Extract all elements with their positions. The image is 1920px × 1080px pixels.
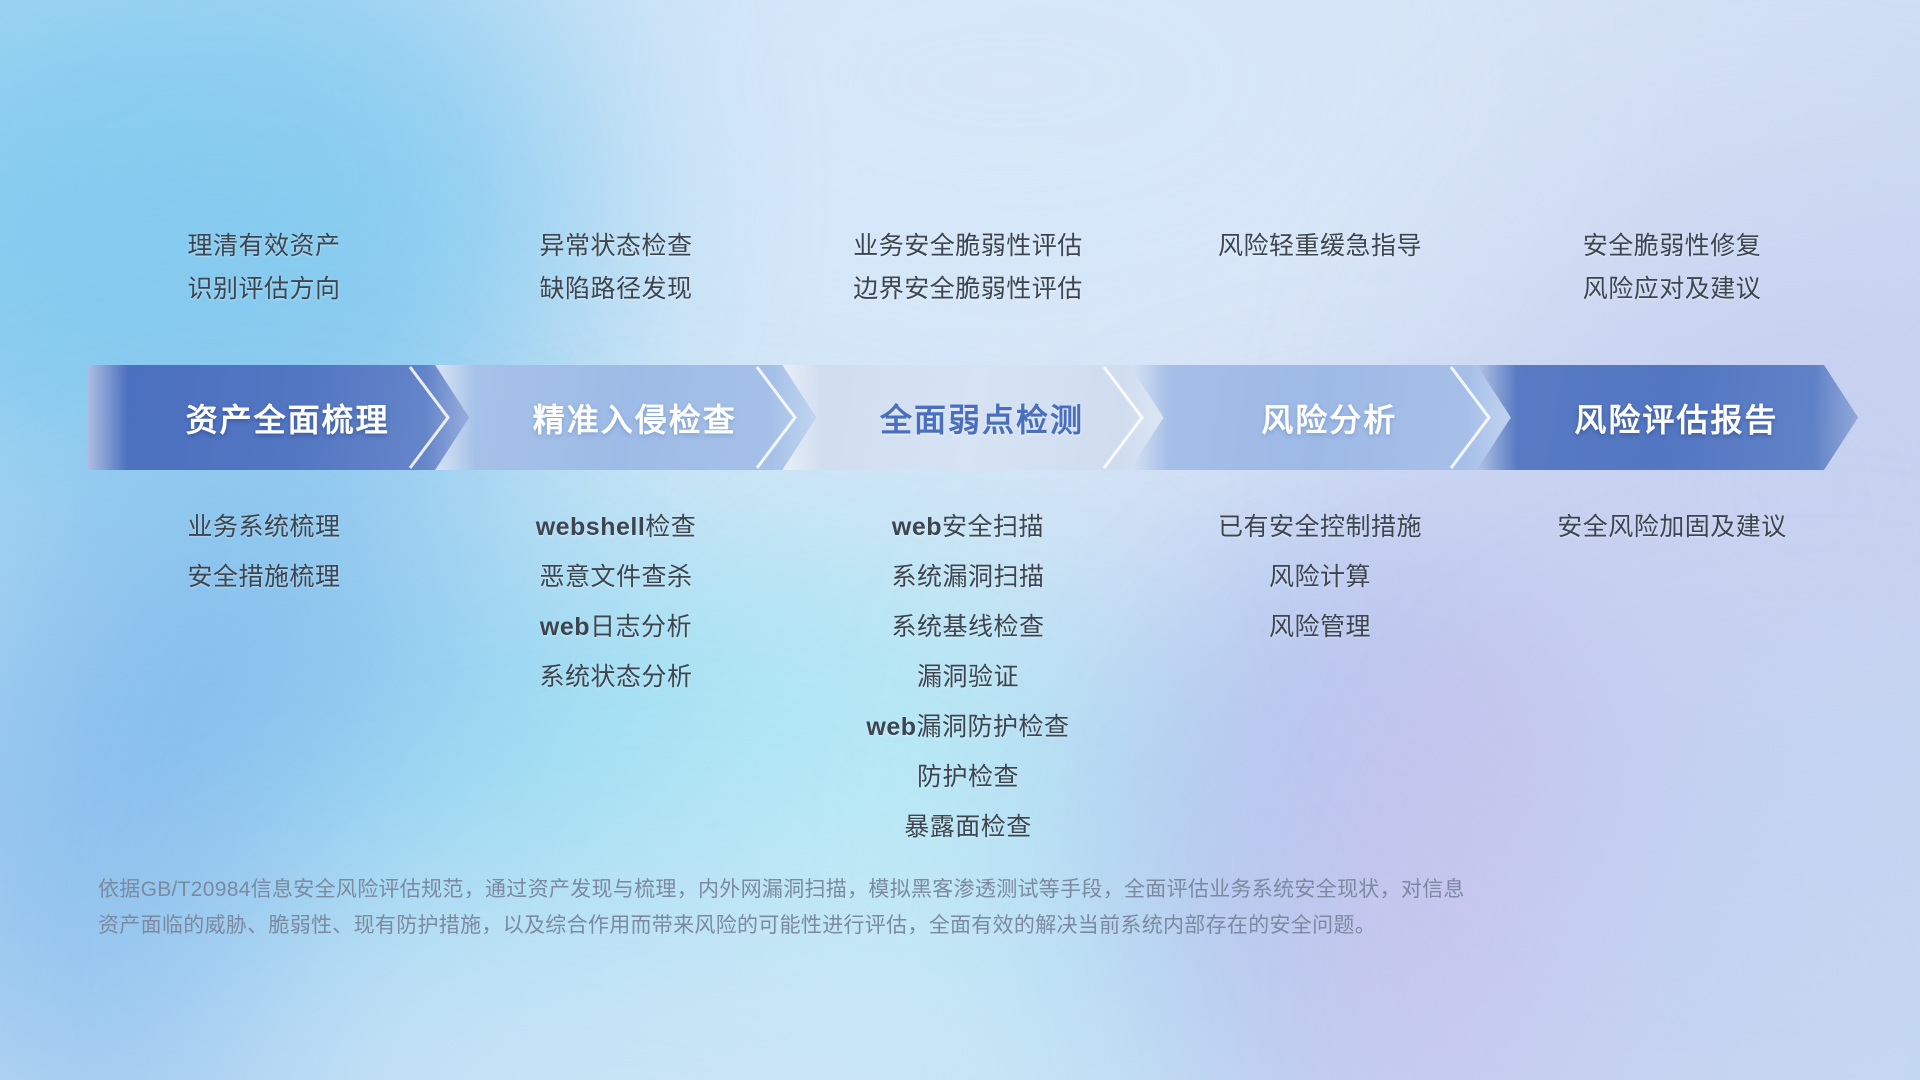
process-arrow-banner: 资产全面梳理 精准入侵检查 全面弱点检测 风险分析 风险评估报告	[88, 365, 1858, 470]
bottom-label-item: 风险管理	[1269, 615, 1371, 640]
process-arrow-label: 风险分析	[1130, 395, 1511, 441]
top-label-item: 风险轻重缓急指导	[1218, 225, 1422, 268]
bottom-label-item: 漏洞验证	[917, 665, 1019, 690]
bottom-label-item: 恶意文件查杀	[539, 565, 692, 590]
process-arrow-label: 全面弱点检测	[782, 395, 1163, 441]
bottom-labels-stage-3: web安全扫描 系统漏洞扫描 系统基线检查 漏洞验证 web漏洞防护检查 防护检…	[792, 515, 1144, 865]
footer-line-2: 资产面临的威胁、脆弱性、现有防护措施，以及综合作用而带来风险的可能性进行评估，全…	[98, 908, 1618, 944]
bottom-labels-stage-2: webshell检查 恶意文件查杀 web日志分析 系统状态分析	[440, 515, 792, 865]
footer-line-1: 依据GB/T20984信息安全风险评估规范，通过资产发现与梳理，内外网漏洞扫描，…	[98, 872, 1618, 908]
top-label-item: 识别评估方向	[187, 268, 340, 311]
process-arrow-label: 资产全面梳理	[88, 395, 469, 441]
bottom-label-item: 安全措施梳理	[187, 565, 340, 590]
bottom-label-item: 业务系统梳理	[187, 515, 340, 540]
bottom-label-item: 系统基线检查	[891, 615, 1044, 640]
bottom-label-item: 风险计算	[1269, 565, 1371, 590]
bottom-label-item: web漏洞防护检查	[866, 715, 1069, 740]
top-label-item: 安全脆弱性修复	[1583, 225, 1762, 268]
top-labels-stage-2: 异常状态检查 缺陷路径发现	[440, 225, 792, 311]
process-arrow-stage-5[interactable]: 风险评估报告	[1477, 365, 1858, 470]
bottom-labels-stage-1: 业务系统梳理 安全措施梳理	[88, 515, 440, 865]
footer-description: 依据GB/T20984信息安全风险评估规范，通过资产发现与梳理，内外网漏洞扫描，…	[98, 872, 1618, 944]
process-arrow-label: 精准入侵检查	[435, 395, 816, 441]
bottom-label-item: 系统漏洞扫描	[891, 565, 1044, 590]
stage-top-labels-row: 理清有效资产 识别评估方向 异常状态检查 缺陷路径发现 业务安全脆弱性评估 边界…	[88, 225, 1848, 311]
top-label-item: 业务安全脆弱性评估	[853, 225, 1083, 268]
bottom-label-item: webshell检查	[536, 515, 697, 540]
bottom-label-item: 防护检查	[917, 765, 1019, 790]
bottom-label-item: web日志分析	[540, 615, 692, 640]
top-label-item: 边界安全脆弱性评估	[853, 268, 1083, 311]
top-label-item: 异常状态检查	[539, 225, 692, 268]
process-arrow-stage-4[interactable]: 风险分析	[1130, 365, 1511, 470]
top-label-item: 缺陷路径发现	[539, 268, 692, 311]
top-label-item: 理清有效资产	[187, 225, 340, 268]
top-labels-stage-3: 业务安全脆弱性评估 边界安全脆弱性评估	[792, 225, 1144, 311]
bottom-label-item: 已有安全控制措施	[1218, 515, 1422, 540]
bottom-label-item: 暴露面检查	[904, 815, 1032, 840]
process-arrow-stage-2[interactable]: 精准入侵检查	[435, 365, 816, 470]
stage-bottom-labels-row: 业务系统梳理 安全措施梳理 webshell检查 恶意文件查杀 web日志分析 …	[88, 515, 1848, 865]
bottom-label-item: web安全扫描	[892, 515, 1044, 540]
bottom-labels-stage-5: 安全风险加固及建议	[1496, 515, 1848, 865]
slide-canvas: 理清有效资产 识别评估方向 异常状态检查 缺陷路径发现 业务安全脆弱性评估 边界…	[0, 0, 1920, 1080]
top-labels-stage-4: 风险轻重缓急指导	[1144, 225, 1496, 311]
top-labels-stage-5: 安全脆弱性修复 风险应对及建议	[1496, 225, 1848, 311]
bottom-label-item: 安全风险加固及建议	[1557, 515, 1787, 540]
process-arrow-stage-3[interactable]: 全面弱点检测	[782, 365, 1163, 470]
process-arrow-stage-1[interactable]: 资产全面梳理	[88, 365, 469, 470]
top-label-item: 风险应对及建议	[1583, 268, 1762, 311]
top-labels-stage-1: 理清有效资产 识别评估方向	[88, 225, 440, 311]
process-arrow-label: 风险评估报告	[1477, 395, 1858, 441]
bottom-labels-stage-4: 已有安全控制措施 风险计算 风险管理	[1144, 515, 1496, 865]
bottom-label-item: 系统状态分析	[539, 665, 692, 690]
